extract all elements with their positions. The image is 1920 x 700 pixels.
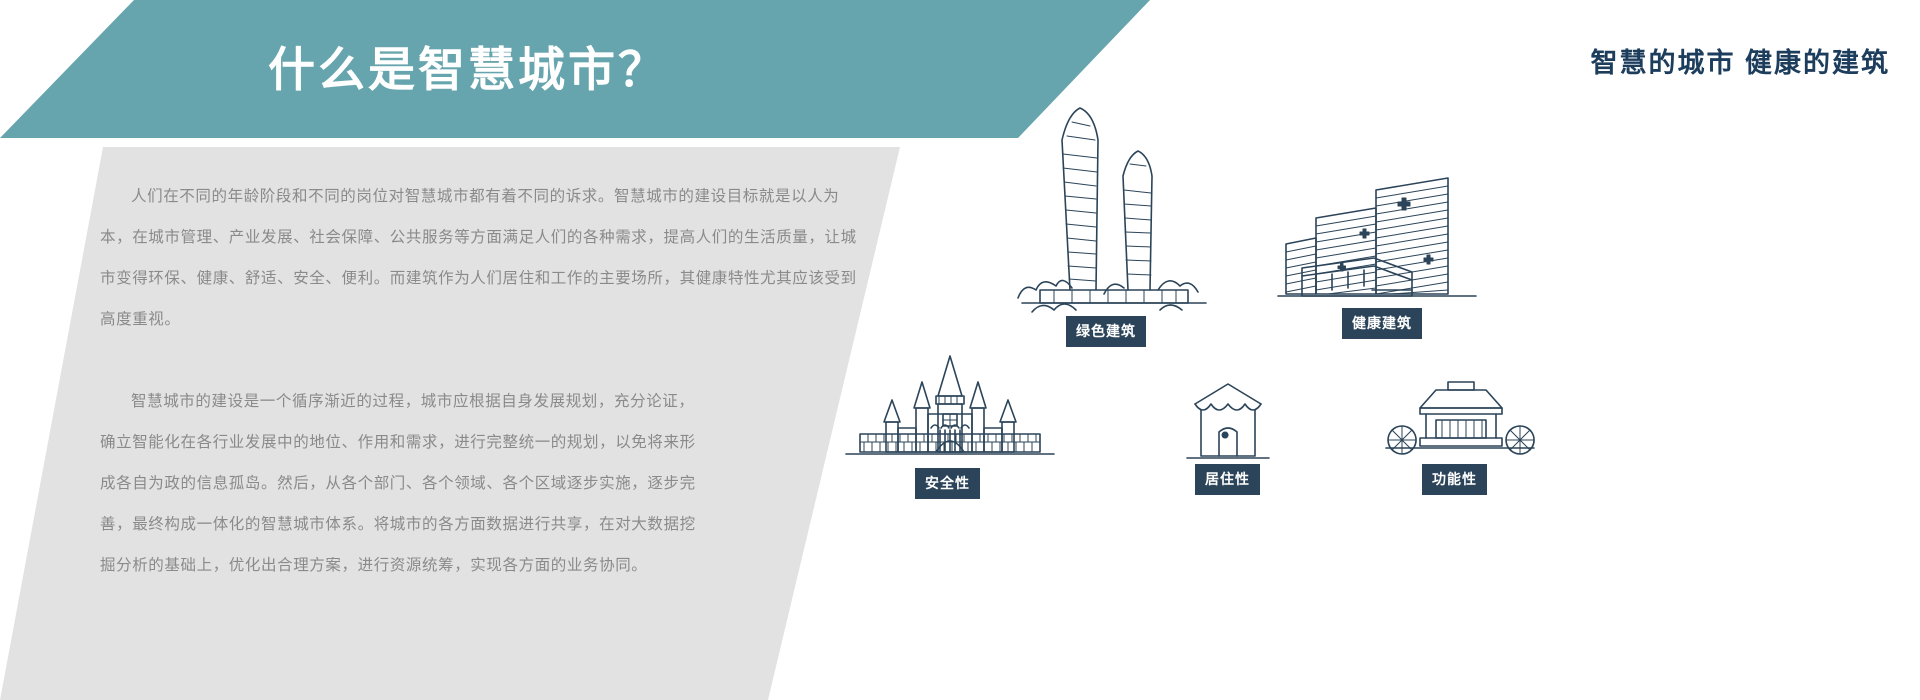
- paragraph-2: 智慧城市的建设是一个循序渐近的过程，城市应根据自身发展规划，充分论证，确立智能化…: [100, 381, 700, 586]
- illustration-green-building: 绿色建筑: [1010, 98, 1210, 313]
- illustration-healthy-building: 健康建筑: [1272, 172, 1482, 312]
- twisted-towers-icon: [1010, 98, 1210, 313]
- badge-safety: 安全性: [915, 468, 980, 499]
- illustration-safety: 安全性: [840, 352, 1060, 472]
- paragraph-1: 人们在不同的年龄阶段和不同的岗位对智慧城市都有着不同的诉求。智慧城市的建设目标就…: [100, 176, 860, 340]
- illustration-functionality: 功能性: [1380, 376, 1540, 466]
- badge-livability: 居住性: [1195, 464, 1260, 495]
- badge-functionality: 功能性: [1422, 464, 1487, 495]
- illustration-livability: 居住性: [1173, 378, 1283, 468]
- pavilion-icon: [1380, 376, 1540, 466]
- section-headline: 智慧的城市 健康的建筑: [1590, 41, 1890, 80]
- badge-green-building: 绿色建筑: [1066, 316, 1146, 347]
- badge-healthy-building: 健康建筑: [1342, 308, 1422, 339]
- illustration-group: 绿色建筑: [840, 90, 1920, 570]
- castle-icon: [840, 352, 1060, 472]
- page-title: 什么是智慧城市？: [268, 31, 668, 100]
- house-shop-icon: [1173, 378, 1283, 468]
- hospital-complex-icon: [1272, 172, 1482, 312]
- body-text-block: 人们在不同的年龄阶段和不同的岗位对智慧城市都有着不同的诉求。智慧城市的建设目标就…: [100, 176, 860, 586]
